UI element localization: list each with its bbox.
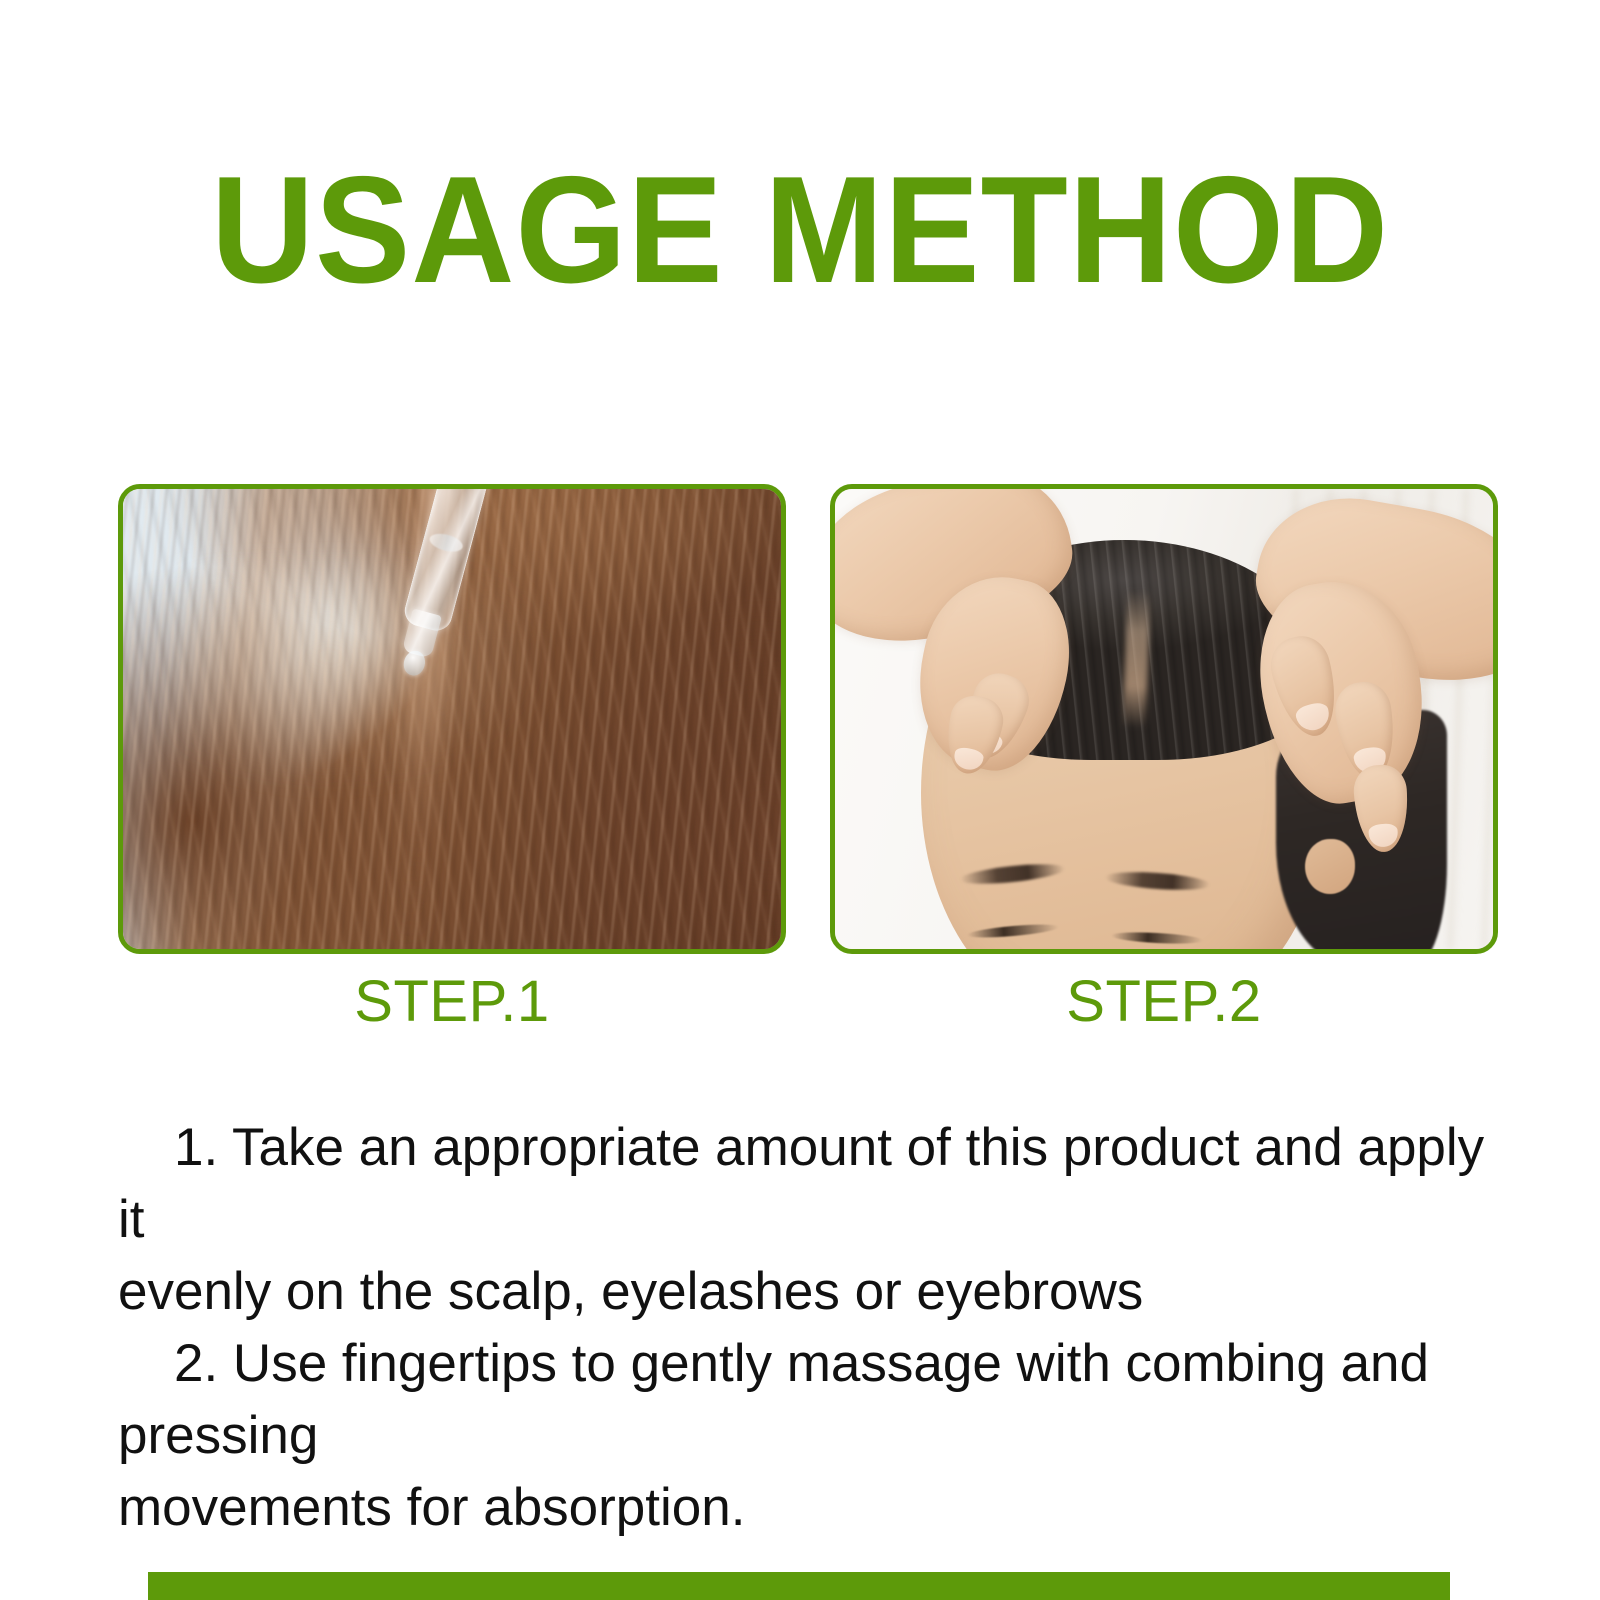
- instruction-line-1: 1. Take an appropriate amount of this pr…: [118, 1112, 1493, 1256]
- step-2-label: STEP.2: [830, 966, 1498, 1038]
- usage-instructions: 1. Take an appropriate amount of this pr…: [118, 1112, 1493, 1544]
- hands-massaging-scalp-photo: [835, 489, 1493, 949]
- dropper-applying-serum-to-scalp-photo: [123, 489, 781, 949]
- step-2-image-panel: [830, 484, 1498, 954]
- instruction-line-2: evenly on the scalp, eyelashes or eyebro…: [118, 1256, 1493, 1328]
- footer-accent-bar: [148, 1572, 1450, 1600]
- instruction-line-3: 2. Use fingertips to gently massage with…: [118, 1328, 1493, 1472]
- step-label-row: STEP.1 STEP.2: [118, 966, 1498, 1038]
- steps-image-row: [118, 484, 1498, 954]
- instruction-line-4: movements for absorption.: [118, 1472, 1493, 1544]
- step-1-image-panel: [118, 484, 786, 954]
- page-title: USAGE METHOD: [48, 150, 1552, 310]
- step-1-label: STEP.1: [118, 966, 786, 1038]
